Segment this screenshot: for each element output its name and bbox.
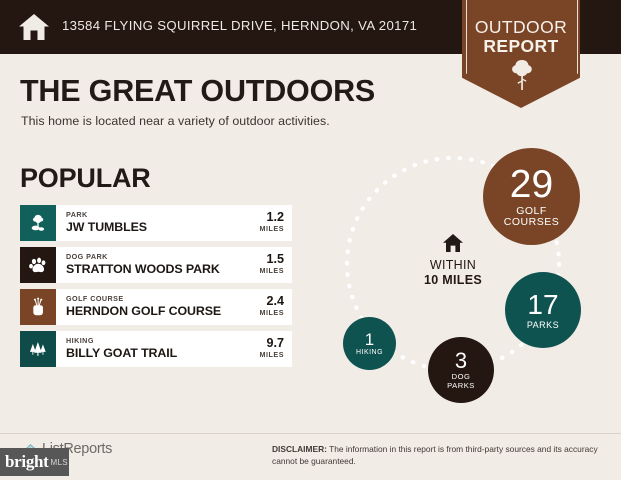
poi-distance-unit: MILES <box>260 266 284 275</box>
poi-distance: 1.2 MILES <box>260 210 284 233</box>
poi-name: BILLY GOAT TRAIL <box>66 346 177 361</box>
center-label-line2: 10 MILES <box>403 273 503 288</box>
bright-mls-suffix: MLS <box>51 458 68 467</box>
disclaimer-text: DISCLAIMER: The information in this repo… <box>272 444 602 467</box>
outdoor-report-page: 13584 FLYING SQUIRREL DRIVE, HERNDON, VA… <box>0 0 621 480</box>
center-label-line1: WITHIN <box>403 258 503 273</box>
poi-distance: 2.4 MILES <box>260 294 284 317</box>
poi-name: HERNDON GOLF COURSE <box>66 304 221 319</box>
bubble-value: 3 <box>455 350 467 372</box>
poi-distance-value: 1.2 <box>260 210 284 224</box>
badge-title-line1: OUTDOOR <box>462 17 580 38</box>
bubble-value: 17 <box>527 291 558 319</box>
golf-bag-icon <box>20 289 56 325</box>
bubble-parks: 17 PARKS <box>505 272 581 348</box>
within-10-miles-bubble-chart: 29 GOLF COURSES 17 PARKS 3 DOG PARKS 1 H… <box>330 140 621 425</box>
bubble-golf-courses: 29 GOLF COURSES <box>483 148 580 245</box>
bubble-label-line2: COURSES <box>504 217 559 229</box>
list-item-text: DOG PARK STRATTON WOODS PARK <box>66 252 220 277</box>
poi-name: STRATTON WOODS PARK <box>66 262 220 277</box>
home-icon <box>18 12 50 42</box>
list-item-text: PARK JW TUMBLES <box>66 210 147 235</box>
poi-category: DOG PARK <box>66 252 220 261</box>
badge-title-line2: REPORT <box>462 36 580 57</box>
chart-center-label: WITHIN 10 MILES <box>403 233 503 288</box>
bubble-value: 29 <box>510 165 553 204</box>
disclaimer-label: DISCLAIMER: <box>272 444 327 454</box>
bubble-value: 1 <box>365 331 374 348</box>
popular-list: PARK JW TUMBLES 1.2 MILES DOG PARK <box>20 205 292 373</box>
poi-distance: 9.7 MILES <box>260 336 284 359</box>
pine-trees-icon <box>20 331 56 367</box>
list-item[interactable]: GOLF COURSE HERNDON GOLF COURSE 2.4 MILE… <box>20 289 292 325</box>
park-tree-icon <box>20 205 56 241</box>
home-icon <box>442 233 464 253</box>
list-item[interactable]: PARK JW TUMBLES 1.2 MILES <box>20 205 292 241</box>
list-item-text: GOLF COURSE HERNDON GOLF COURSE <box>66 294 221 319</box>
page-subtitle: This home is located near a variety of o… <box>21 114 330 128</box>
tree-icon <box>511 59 533 91</box>
footer-divider <box>0 433 621 434</box>
poi-distance-unit: MILES <box>260 350 284 359</box>
bright-mls-watermark: bright MLS <box>0 448 69 476</box>
poi-distance-value: 1.5 <box>260 252 284 266</box>
poi-category: HIKING <box>66 336 177 345</box>
bubble-label-line1: PARKS <box>527 320 559 330</box>
bubble-label-line1: HIKING <box>356 349 383 357</box>
property-address: 13584 FLYING SQUIRREL DRIVE, HERNDON, VA… <box>62 18 417 33</box>
list-item[interactable]: HIKING BILLY GOAT TRAIL 9.7 MILES <box>20 331 292 367</box>
popular-heading: POPULAR <box>20 163 151 194</box>
poi-category: PARK <box>66 210 147 219</box>
paw-print-icon <box>20 247 56 283</box>
poi-category: GOLF COURSE <box>66 294 221 303</box>
bright-mls-name: bright <box>5 452 49 472</box>
bubble-dog-parks: 3 DOG PARKS <box>428 337 494 403</box>
bubble-label-line2: PARKS <box>447 382 475 391</box>
list-item-text: HIKING BILLY GOAT TRAIL <box>66 336 177 361</box>
poi-name: JW TUMBLES <box>66 220 147 235</box>
poi-distance-unit: MILES <box>260 308 284 317</box>
poi-distance-unit: MILES <box>260 224 284 233</box>
list-item[interactable]: DOG PARK STRATTON WOODS PARK 1.5 MILES <box>20 247 292 283</box>
poi-distance: 1.5 MILES <box>260 252 284 275</box>
poi-distance-value: 9.7 <box>260 336 284 350</box>
outdoor-report-badge: OUTDOOR REPORT <box>462 0 580 108</box>
bubble-hiking: 1 HIKING <box>343 317 396 370</box>
page-title: THE GREAT OUTDOORS <box>20 74 375 109</box>
poi-distance-value: 2.4 <box>260 294 284 308</box>
